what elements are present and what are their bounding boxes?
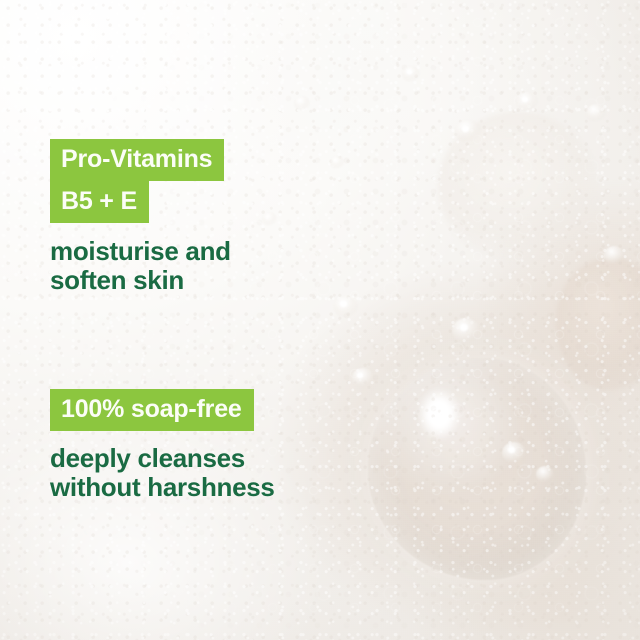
droplet-highlight-icon <box>461 125 470 133</box>
claim-tag-pro-vitamins: Pro-Vitamins <box>50 139 224 181</box>
droplet-highlight-icon <box>406 69 413 75</box>
foam-droplet <box>262 212 277 226</box>
claim-subtext-moisturise: moisturise and soften skin <box>50 237 231 295</box>
droplet-highlight-icon <box>459 323 469 332</box>
foam-droplet <box>536 466 554 483</box>
foam-droplet <box>330 156 344 169</box>
droplet-highlight-icon <box>356 372 364 379</box>
claim-subtext-deeply-cleanses: deeply cleanses without harshness <box>50 444 275 502</box>
claim-block-pro-vitamins: Pro-Vitamins B5 + E moisturise and softe… <box>50 139 231 295</box>
droplet-highlight-icon <box>521 96 529 103</box>
claim-block-soap-free: 100% soap-free deeply cleanses without h… <box>50 389 275 502</box>
foam-droplet <box>294 96 310 111</box>
large-bubble-highlight-icon <box>417 387 461 441</box>
foam-droplet <box>352 368 374 388</box>
claim-tag-soap-free: 100% soap-free <box>50 389 254 431</box>
advertisement-image: Pro-Vitamins B5 + E moisturise and softe… <box>0 0 640 640</box>
droplet-highlight-icon <box>507 446 516 454</box>
right-edge-bubble <box>556 258 640 390</box>
large-bubble <box>368 358 586 580</box>
claim-tag-b5-plus-e: B5 + E <box>50 181 149 223</box>
foam-droplet <box>604 246 624 265</box>
foam-droplet <box>586 104 606 122</box>
droplet-highlight-icon <box>339 300 348 308</box>
